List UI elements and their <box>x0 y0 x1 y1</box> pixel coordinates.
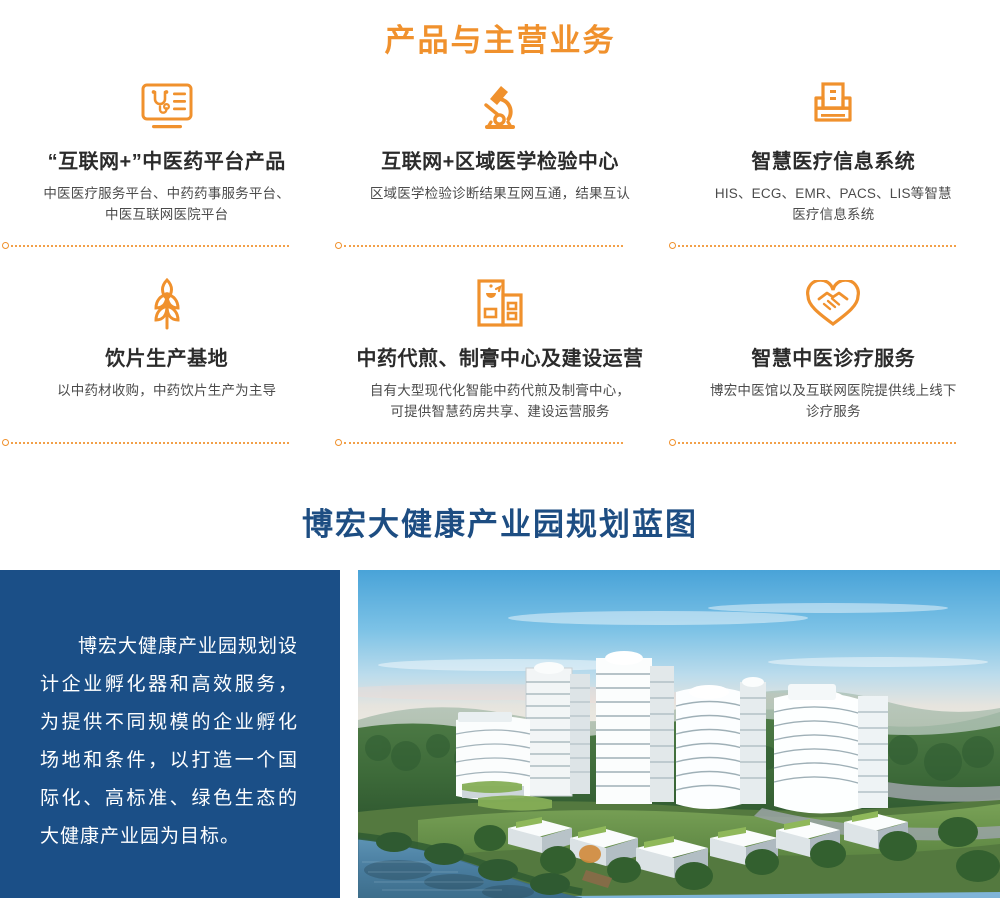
dotted-divider <box>333 240 666 252</box>
server-printer-icon <box>685 77 982 137</box>
dotted-divider <box>333 437 666 449</box>
divider-dot-icon <box>2 439 9 446</box>
divider-dot-icon <box>669 242 676 249</box>
divider-dot-icon <box>2 242 9 249</box>
product-card-desc: 中医医疗服务平台、中药药事服务平台、中医互联网医院平台 <box>18 184 315 226</box>
divider-line <box>344 442 622 444</box>
product-card-title: 饮片生产基地 <box>18 346 315 372</box>
product-card-smart-medical-info-system[interactable]: 智慧医疗信息系统 HIS、ECG、EMR、PACS、LIS等智慧医疗信息系统 <box>667 77 1000 226</box>
dotted-divider <box>667 437 1000 449</box>
blueprint-section: 博宏大健康产业园规划蓝图 博宏大健康产业园规划设计企业孵化器和高效服务，为提供不… <box>0 499 1000 898</box>
product-card-regional-lab-center[interactable]: 互联网+区域医学检验中心 区域医学检验诊断结果互网互通，结果互认 <box>333 77 666 226</box>
product-card-decoction-paste-center[interactable]: 中药代煎、制膏中心及建设运营 自有大型现代化智能中药代煎及制膏中心，可提供智慧药… <box>333 274 666 423</box>
dotted-divider <box>0 240 333 252</box>
blueprint-rendering-image <box>358 570 1000 898</box>
product-cards: “互联网+”中医药平台产品 中医医疗服务平台、中药药事服务平台、中医互联网医院平… <box>0 77 1000 449</box>
product-card-internet-plus-tcm[interactable]: “互联网+”中医药平台产品 中医医疗服务平台、中药药事服务平台、中医互联网医院平… <box>0 77 333 226</box>
blueprint-title: 博宏大健康产业园规划蓝图 <box>0 499 1000 544</box>
product-card-title: 智慧中医诊疗服务 <box>685 346 982 372</box>
product-card-desc: 区域医学检验诊断结果互网互通，结果互认 <box>351 184 648 205</box>
divider-row-1 <box>0 240 1000 252</box>
divider-line <box>678 245 956 247</box>
product-cards-row-1: “互联网+”中医药平台产品 中医医疗服务平台、中药药事服务平台、中医互联网医院平… <box>0 77 1000 226</box>
product-card-smart-tcm-diagnosis[interactable]: 智慧中医诊疗服务 博宏中医馆以及互联网医院提供线上线下诊疗服务 <box>667 274 1000 423</box>
product-card-desc: 以中药材收购，中药饮片生产为主导 <box>18 381 315 402</box>
divider-line <box>678 442 956 444</box>
blueprint-body: 博宏大健康产业园规划设计企业孵化器和高效服务，为提供不同规模的企业孵化场地和条件… <box>0 570 1000 898</box>
dotted-divider <box>667 240 1000 252</box>
product-card-desc: 博宏中医馆以及互联网医院提供线上线下诊疗服务 <box>685 381 982 423</box>
divider-dot-icon <box>669 439 676 446</box>
building-teapot-icon <box>351 274 648 334</box>
divider-line <box>11 245 289 247</box>
medical-record-monitor-icon <box>18 77 315 137</box>
heart-handshake-icon <box>685 274 982 334</box>
divider-dot-icon <box>335 242 342 249</box>
microscope-icon <box>351 77 648 137</box>
product-card-title: 互联网+区域医学检验中心 <box>351 149 648 175</box>
product-card-decoction-pieces-base[interactable]: 饮片生产基地 以中药材收购，中药饮片生产为主导 <box>0 274 333 423</box>
divider-line <box>344 245 622 247</box>
page-title: 产品与主营业务 <box>0 0 1000 59</box>
product-card-desc: HIS、ECG、EMR、PACS、LIS等智慧医疗信息系统 <box>685 184 982 226</box>
row-spacer <box>0 252 1000 274</box>
dotted-divider <box>0 437 333 449</box>
wheat-leaf-icon <box>18 274 315 334</box>
product-card-desc: 自有大型现代化智能中药代煎及制膏中心，可提供智慧药房共享、建设运营服务 <box>351 381 648 423</box>
product-cards-row-2: 饮片生产基地 以中药材收购，中药饮片生产为主导 中 <box>0 274 1000 423</box>
blueprint-spacer <box>340 570 358 898</box>
products-section: 产品与主营业务 <box>0 0 1000 449</box>
product-card-title: 中药代煎、制膏中心及建设运营 <box>351 346 648 372</box>
product-card-title: 智慧医疗信息系统 <box>685 149 982 175</box>
product-card-title: “互联网+”中医药平台产品 <box>18 149 315 175</box>
divider-line <box>11 442 289 444</box>
divider-dot-icon <box>335 439 342 446</box>
blueprint-text-panel: 博宏大健康产业园规划设计企业孵化器和高效服务，为提供不同规模的企业孵化场地和条件… <box>0 570 340 898</box>
divider-row-2 <box>0 437 1000 449</box>
blueprint-paragraph: 博宏大健康产业园规划设计企业孵化器和高效服务，为提供不同规模的企业孵化场地和条件… <box>40 628 298 856</box>
